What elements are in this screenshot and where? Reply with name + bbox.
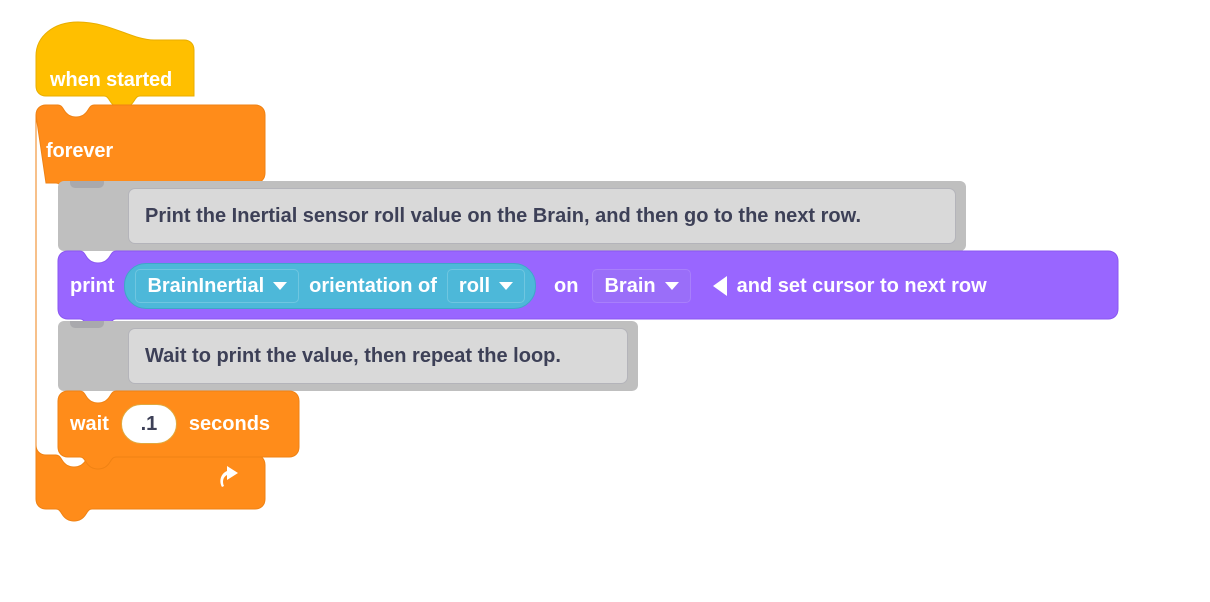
triangle-left-icon xyxy=(713,276,727,296)
wait-label: wait xyxy=(70,414,109,434)
comment-notch xyxy=(70,321,104,328)
wait-block-row: wait .1 seconds xyxy=(58,391,270,457)
dropdown-device-value: BrainInertial xyxy=(147,276,264,296)
reporter-middle-label: orientation of xyxy=(309,276,437,296)
forever-label: forever xyxy=(46,141,113,161)
comment-text: Print the Inertial sensor roll value on … xyxy=(145,206,861,226)
dropdown-axis-value: roll xyxy=(459,276,490,296)
chevron-down-icon xyxy=(499,282,513,290)
print-block-row: print BrainInertial orientation of roll … xyxy=(58,251,987,321)
dropdown-target-device[interactable]: Brain xyxy=(592,269,690,303)
block-workspace[interactable]: when started forever Print the Inertial … xyxy=(0,0,1210,602)
wait-seconds-input[interactable]: .1 xyxy=(121,404,177,444)
dropdown-target-value: Brain xyxy=(604,276,655,296)
chevron-down-icon xyxy=(665,282,679,290)
dropdown-device[interactable]: BrainInertial xyxy=(135,269,299,303)
comment-block-2[interactable]: Wait to print the value, then repeat the… xyxy=(58,321,638,391)
reporter-orientation-of[interactable]: BrainInertial orientation of roll xyxy=(124,263,536,309)
block-when-started[interactable]: when started xyxy=(36,22,196,108)
block-wait[interactable]: wait .1 seconds xyxy=(58,391,298,459)
comment-block-1[interactable]: Print the Inertial sensor roll value on … xyxy=(58,181,966,251)
print-on-label: on xyxy=(554,276,578,296)
comment-text-box[interactable]: Print the Inertial sensor roll value on … xyxy=(128,188,956,244)
print-label: print xyxy=(70,276,114,296)
print-suffix-label: and set cursor to next row xyxy=(737,276,987,296)
block-print[interactable]: print BrainInertial orientation of roll … xyxy=(58,251,1118,321)
wait-seconds-value: .1 xyxy=(141,414,158,434)
dropdown-axis[interactable]: roll xyxy=(447,269,525,303)
comment-notch xyxy=(70,181,104,188)
chevron-down-icon xyxy=(273,282,287,290)
comment-text: Wait to print the value, then repeat the… xyxy=(145,346,561,366)
wait-unit-label: seconds xyxy=(189,414,270,434)
comment-text-box[interactable]: Wait to print the value, then repeat the… xyxy=(128,328,628,384)
when-started-label: when started xyxy=(50,70,172,90)
